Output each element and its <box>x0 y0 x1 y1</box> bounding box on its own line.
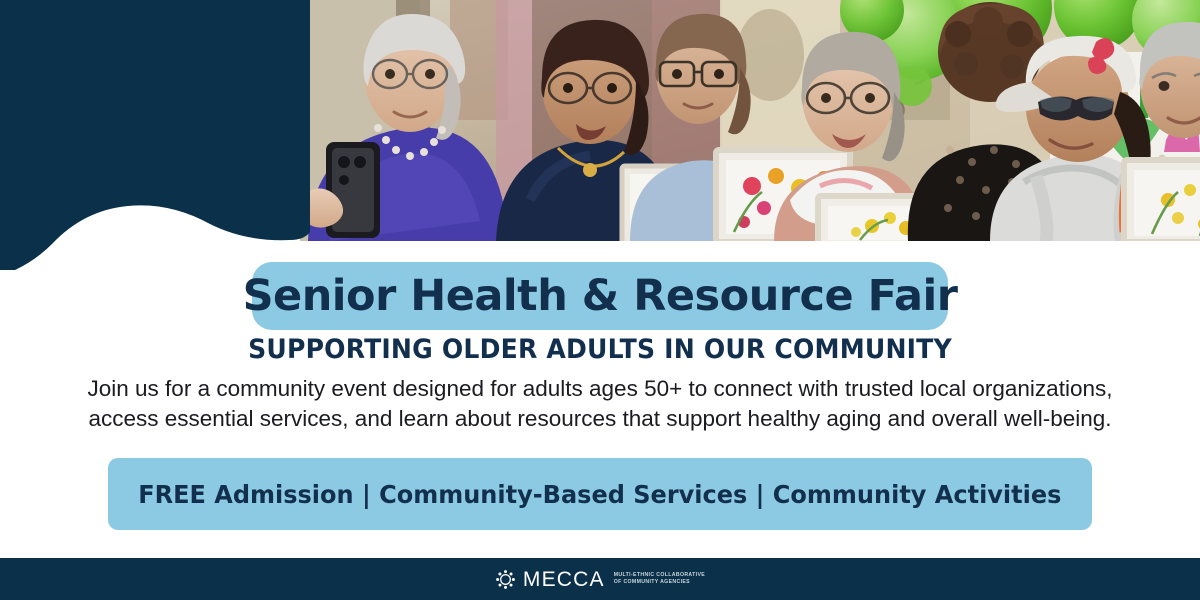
hero-photo: t He <box>300 0 1200 241</box>
subtitle: SUPPORTING OLDER ADULTS IN OUR COMMUNITY <box>42 336 1158 363</box>
event-flyer: t He <box>0 0 1200 600</box>
footer-bar: MECCA MULTI-ETHNIC COLLABORATIVE OF COMM… <box>0 558 1200 600</box>
features-text: FREE Admission | Community-Based Service… <box>138 482 1061 507</box>
mecca-logo: MECCA MULTI-ETHNIC COLLABORATIVE OF COMM… <box>495 569 705 590</box>
page-title: Senior Health & Resource Fair <box>243 275 958 318</box>
mecca-tagline-line-1: MULTI-ETHNIC COLLABORATIVE <box>614 572 705 579</box>
mecca-tagline-line-2: OF COMMUNITY AGENCIES <box>614 579 705 586</box>
starburst-ring-icon <box>495 569 516 590</box>
mecca-tagline: MULTI-ETHNIC COLLABORATIVE OF COMMUNITY … <box>614 572 705 586</box>
features-banner: FREE Admission | Community-Based Service… <box>108 458 1092 530</box>
navy-wave-decoration <box>0 0 330 270</box>
description-line-1: Join us for a community event designed f… <box>60 374 1140 404</box>
title-pill: Senior Health & Resource Fair <box>252 262 948 330</box>
description-line-2: access essential services, and learn abo… <box>60 404 1140 434</box>
description-paragraph: Join us for a community event designed f… <box>60 374 1140 434</box>
mecca-wordmark: MECCA <box>523 569 605 590</box>
